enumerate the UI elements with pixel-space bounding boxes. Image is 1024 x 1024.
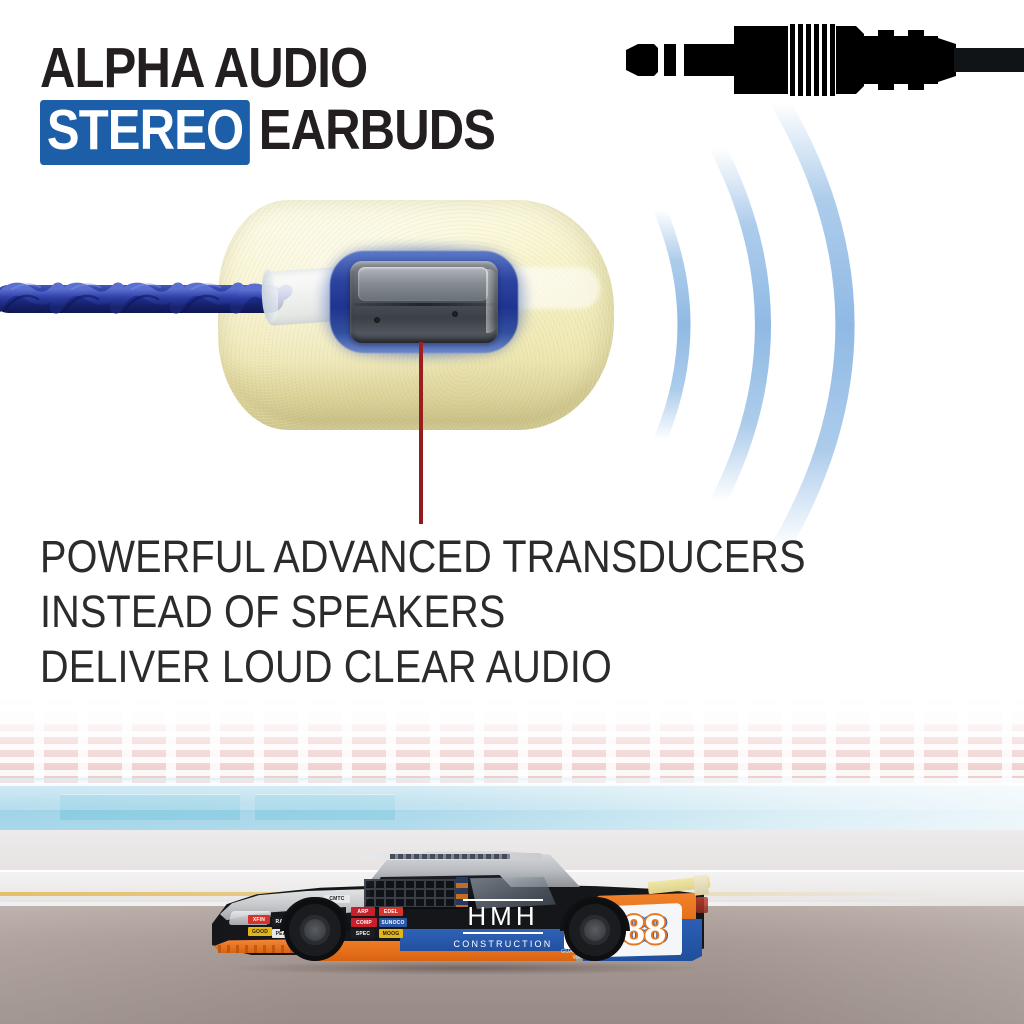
sponsor-decal: SUNOCO (379, 918, 407, 927)
foam-shading (228, 363, 598, 425)
car-front-hub (304, 919, 326, 941)
transducer-top-face (358, 267, 488, 301)
feature-line-1: POWERFUL ADVANCED TRANSDUCERS (40, 530, 744, 585)
car-rear-hub (584, 919, 606, 941)
sponsor-decal: EDEL (379, 907, 403, 916)
sponsor-hmh-subtext: CONSTRUCTION (454, 939, 553, 949)
car-roof-decal (390, 854, 510, 859)
race-car: 88 HMH CONSTRUCTION GW GUARANTEED WATT A… (212, 845, 722, 985)
transducer-port (374, 317, 380, 323)
transducer-edge-highlight (486, 269, 498, 333)
sponsor-decal: COMP (351, 918, 377, 927)
transducer-seam (354, 303, 494, 306)
feature-line-3: DELIVER LOUD CLEAR AUDIO (40, 640, 744, 695)
sponsor-decal: MOOG (379, 929, 403, 938)
headline-highlight-chip: STEREO (40, 100, 250, 164)
sponsor-decal: XFIN (248, 915, 270, 924)
sound-wave-arcs (630, 100, 1024, 550)
feature-copy-block: POWERFUL ADVANCED TRANSDUCERS INSTEAD OF… (40, 530, 840, 695)
headline-block: ALPHA AUDIO STEREO EARBUDS (40, 42, 600, 165)
sponsor-decal: SPEC (351, 929, 375, 938)
car-shadow (230, 961, 700, 975)
sponsor-hmh-wordmark: HMH (463, 899, 542, 934)
callout-pointer-line (419, 342, 423, 524)
sponsor-hmh-logo: HMH CONSTRUCTION (444, 903, 562, 945)
headline-line-1: ALPHA AUDIO (40, 42, 522, 94)
sponsor-decal: ARP (351, 907, 375, 916)
transducer-port (452, 311, 458, 317)
twisted-cord (0, 273, 294, 325)
car-taillight (696, 897, 708, 913)
foam-earbud-product (0, 185, 640, 455)
feature-line-2: INSTEAD OF SPEAKERS (40, 585, 744, 640)
headline-line-2: STEREO EARBUDS (40, 100, 522, 164)
sponsor-decal: GOOD (248, 927, 272, 936)
car-spoiler-endplate (693, 874, 709, 895)
photo-top-fade (0, 690, 1024, 736)
product-marketing-poster: 88 HMH CONSTRUCTION GW GUARANTEED WATT A… (0, 0, 1024, 1024)
audio-jack-icon (608, 14, 1024, 110)
headline-line-2-rest: EARBUDS (250, 100, 495, 160)
